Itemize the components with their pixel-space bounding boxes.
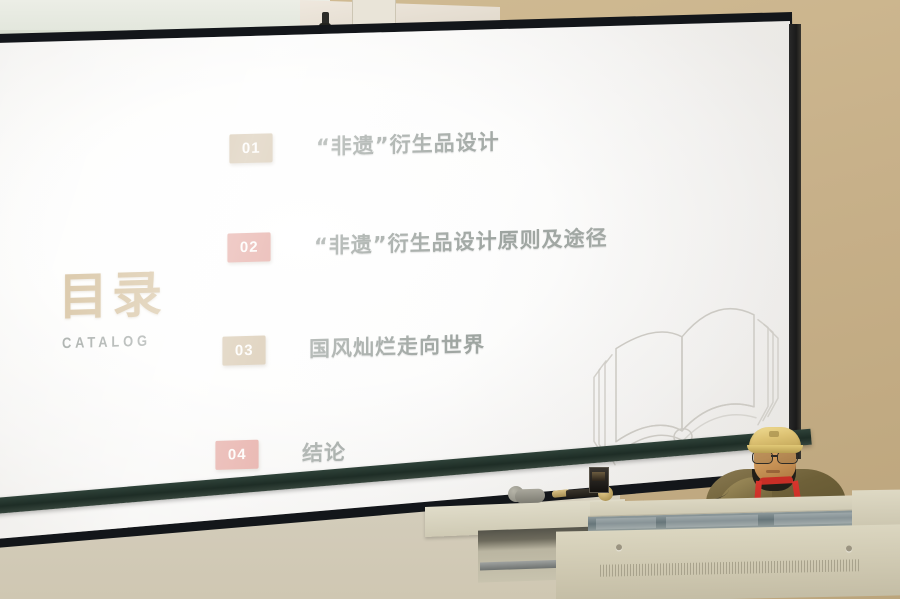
lectern-trim-segment — [774, 512, 852, 525]
control-panel-icon — [589, 467, 609, 493]
presenter-cap-brim — [747, 445, 803, 453]
toc-badge-04: 04 — [215, 439, 258, 469]
presenter-mouth — [766, 470, 780, 473]
page-title: 目录 — [58, 267, 238, 322]
toc-item-04[interactable]: 04 结论 — [210, 436, 346, 470]
toc-number-03: 03 — [235, 341, 254, 359]
security-camera-icon — [322, 12, 329, 26]
toc-item-02[interactable]: 02 “非遗”衍生品设计原则及途径 — [222, 222, 608, 263]
lectern-trim-segment — [596, 517, 656, 529]
cap-logo-icon — [769, 431, 779, 437]
lectern-knob[interactable] — [846, 545, 852, 551]
toc-item-01[interactable]: 01 “非遗”衍生品设计 — [224, 126, 500, 164]
toc-number-04: 04 — [228, 446, 247, 464]
lectern-trim-segment — [666, 515, 758, 528]
toc-label-03: 国风灿烂走向世界 — [309, 328, 485, 363]
toc-number-02: 02 — [240, 238, 259, 256]
screen-right-frame — [789, 24, 801, 459]
lecture-hall-scene: 目录 CATALOG 01 “非遗”衍生品设计 02 “非遗”衍生品设计原则及途… — [0, 0, 900, 599]
lectern-vent-grille — [600, 559, 860, 576]
toc-number-01: 01 — [242, 139, 261, 157]
toc-badge-02: 02 — [227, 232, 270, 262]
toc-label-02: “非遗”衍生品设计原则及途径 — [314, 222, 608, 260]
ceiling-strip-secondary — [0, 0, 330, 30]
microphone-stand — [515, 488, 545, 503]
page-subtitle: CATALOG — [62, 331, 213, 352]
lectern-front-panel — [556, 524, 900, 599]
toc-badge-03: 03 — [222, 335, 265, 365]
toc-badge-01: 01 — [229, 133, 272, 163]
toc-item-03[interactable]: 03 国风灿烂走向世界 — [217, 328, 485, 365]
toc-label-04: 结论 — [302, 436, 346, 467]
slide-heading-block: 目录 CATALOG — [58, 267, 238, 352]
lectern-knob[interactable] — [616, 544, 622, 550]
toc-label-01: “非遗”衍生品设计 — [316, 126, 500, 161]
ceiling-equipment-box — [352, 0, 396, 27]
